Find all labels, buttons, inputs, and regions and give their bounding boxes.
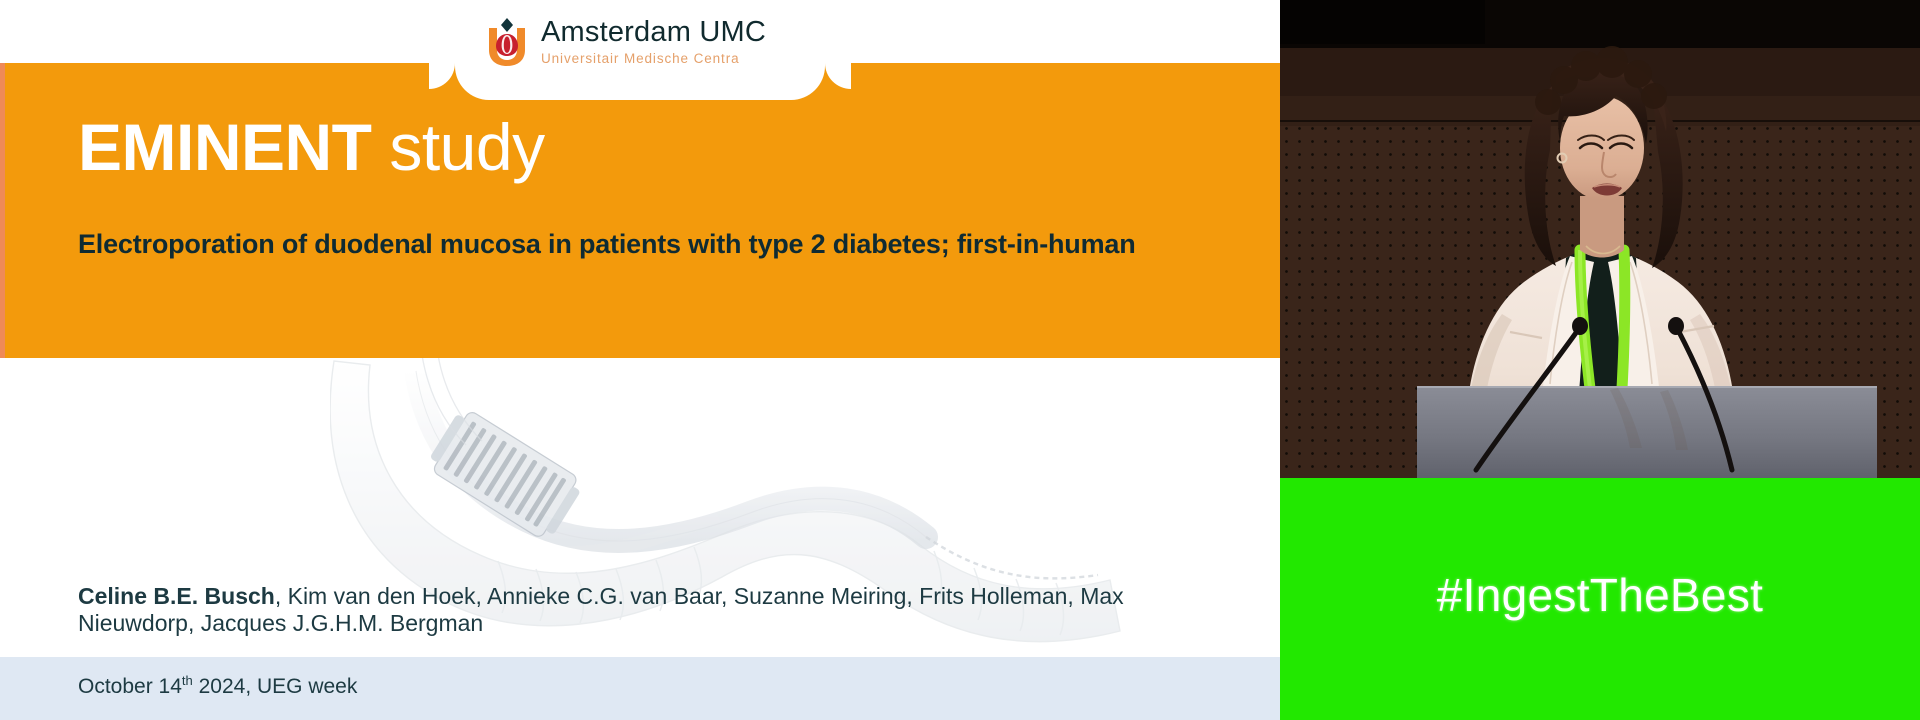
lozenge-fillet-left: [429, 63, 455, 89]
speaker-video-panel: #IngestTheBest: [1280, 0, 1920, 720]
hashtag-text: #IngestTheBest: [1437, 568, 1763, 622]
slide-subtitle: Electroporation of duodenal mucosa in pa…: [78, 228, 1208, 261]
speaker-video-feed[interactable]: [1280, 0, 1920, 478]
presenting-author-name: Celine B.E. Busch: [78, 583, 275, 609]
logo-title: Amsterdam UMC: [541, 18, 766, 47]
date-ordinal-suffix: th: [182, 673, 193, 688]
slide-title-bold: EMINENT: [78, 110, 372, 184]
slide-date-bar: October 14th 2024, UEG week: [0, 657, 1280, 720]
slide-date-text: October 14th 2024, UEG week: [78, 673, 357, 699]
hashtag-banner: #IngestTheBest: [1280, 478, 1920, 720]
logo-subtitle: Universitair Medische Centra: [541, 52, 766, 66]
slide-panel: Amsterdam UMC Universitair Medische Cent…: [0, 0, 1280, 720]
lozenge-fillet-right: [825, 63, 851, 89]
date-suffix: 2024, UEG week: [193, 675, 358, 698]
amsterdam-umc-tulip-logo-icon: [485, 18, 529, 66]
date-prefix: October 14: [78, 675, 182, 698]
slide-authors: Celine B.E. Busch, Kim van den Hoek, Ann…: [78, 583, 1188, 636]
presentation-screen: Amsterdam UMC Universitair Medische Cent…: [0, 0, 1920, 720]
lectern: [1417, 388, 1877, 478]
slide-title-light: study: [389, 110, 544, 184]
slide-title: EMINENT study: [78, 114, 545, 180]
slide-orange-band: [0, 63, 1280, 358]
amsterdam-umc-logo: Amsterdam UMC Universitair Medische Cent…: [485, 18, 766, 66]
slide-band-accent-stripe: [0, 63, 5, 358]
